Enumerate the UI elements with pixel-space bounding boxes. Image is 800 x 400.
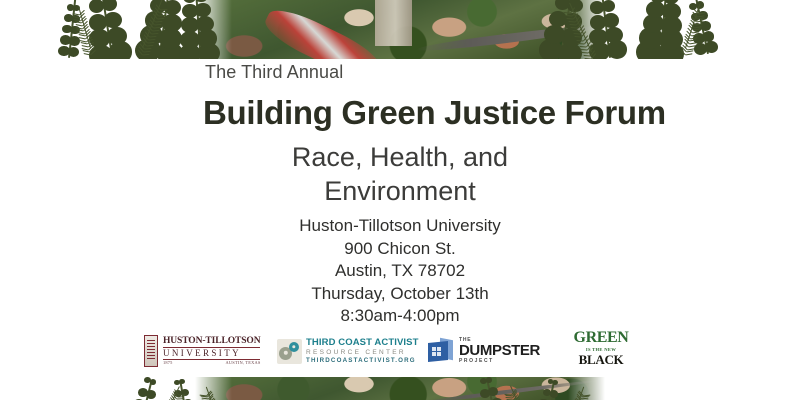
gear-small-icon <box>289 342 299 352</box>
logo-green-is-the-new-black[interactable]: GREEN IS THE NEW BLACK <box>570 328 632 376</box>
ht-location: AUSTIN, TEXAS <box>226 361 261 366</box>
logo-dumpster-project[interactable]: THE DUMPSTER PROJECT <box>428 328 544 374</box>
ht-line-3: 1875 AUSTIN, TEXAS <box>163 361 260 366</box>
event-flyer: The Third Annual Building Green Justice … <box>0 0 800 400</box>
venue-street: 900 Chicon St. <box>0 238 800 261</box>
eucalyptus-leaf-silhouette <box>465 377 680 400</box>
logo-third-coast-activist[interactable]: THIRD COAST ACTIVIST RESOURCE CENTER THI… <box>277 328 399 374</box>
leaf-icon <box>550 390 558 397</box>
venue-name: Huston-Tillotson University <box>0 215 800 238</box>
logo-huston-tillotson-university[interactable]: HUSTON-TILLOTSON UNIVERSITY 1875 AUSTIN,… <box>144 328 268 374</box>
leaf-icon <box>480 378 487 384</box>
tca-line-2: RESOURCE CENTER <box>306 349 418 356</box>
dumpster-icon <box>428 339 455 363</box>
leaf-icon <box>174 380 180 385</box>
event-details: Huston-Tillotson University 900 Chicon S… <box>0 215 800 328</box>
logo-text: THE DUMPSTER PROJECT <box>459 338 540 363</box>
bottom-photo-banner <box>0 377 800 400</box>
gb-line-green: GREEN <box>570 330 632 346</box>
eucalyptus-leaf-silhouette <box>120 377 335 400</box>
gears-icon <box>277 339 302 364</box>
tca-line-1: THIRD COAST ACTIVIST <box>306 338 418 348</box>
leaf-icon <box>150 379 157 385</box>
fern-frond <box>504 394 511 395</box>
sponsor-logo-row: HUSTON-TILLOTSON UNIVERSITY 1875 AUSTIN,… <box>0 328 800 378</box>
page-title: Building Green Justice Forum <box>203 94 666 132</box>
ht-line-2: UNIVERSITY <box>163 347 260 359</box>
tower-icon <box>144 335 158 367</box>
dp-line-dumpster: DUMPSTER <box>459 344 540 358</box>
leaf-icon <box>146 390 156 399</box>
gb-line-black: BLACK <box>570 353 632 366</box>
leaf-icon <box>552 380 558 385</box>
dp-line-project: PROJECT <box>459 359 540 364</box>
venue-city: Austin, TX 78702 <box>0 260 800 283</box>
logo-text: THIRD COAST ACTIVIST RESOURCE CENTER THI… <box>306 338 418 365</box>
leaf-icon <box>480 389 490 398</box>
kicker-text: The Third Annual <box>205 62 343 83</box>
tca-website: THIRDCOASTACTIVIST.ORG <box>306 358 418 365</box>
ht-founded-year: 1875 <box>163 361 173 366</box>
logo-text: HUSTON-TILLOTSON UNIVERSITY 1875 AUSTIN,… <box>163 337 260 366</box>
subtitle: Race, Health, and Environment <box>0 140 800 208</box>
event-time: 8:30am-4:00pm <box>0 305 800 328</box>
subtitle-line-1: Race, Health, and <box>0 140 800 174</box>
event-date: Thursday, October 13th <box>0 283 800 306</box>
ht-line-1: HUSTON-TILLOTSON <box>163 337 260 347</box>
subtitle-line-2: Environment <box>0 174 800 208</box>
dumpster-window <box>432 347 441 356</box>
flyer-content: The Third Annual Building Green Justice … <box>0 0 800 400</box>
